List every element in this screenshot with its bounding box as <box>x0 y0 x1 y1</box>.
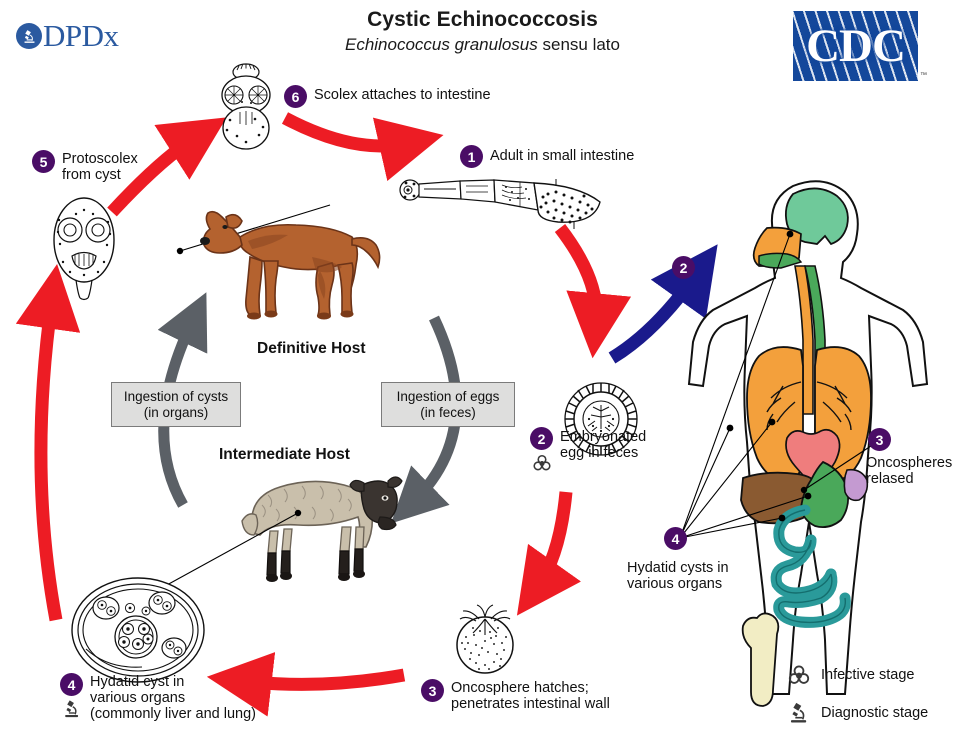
step-6-caption: 6 Scolex attaches to intestine <box>284 85 491 108</box>
ingestion-of-cysts-box: Ingestion of cysts (in organs) <box>111 382 241 427</box>
legend-row-diagnostic: Diagnostic stage <box>786 700 928 726</box>
step-4-caption: 4 Hydatid cyst in various organs (common… <box>60 673 256 723</box>
step-2-badge: 2 <box>530 427 553 450</box>
step-5-label: Protoscolex from cyst <box>62 150 138 183</box>
protoscolex-illustration <box>46 192 122 300</box>
step-2-icon-group: 2 <box>530 427 553 474</box>
step-6-badge: 6 <box>284 85 307 108</box>
hydatid-cyst-illustration <box>58 575 218 685</box>
scolex-illustration <box>213 62 279 150</box>
biohazard-icon <box>531 452 553 474</box>
step-2-caption: 2 Embryonated egg in feces <box>530 427 646 474</box>
biohazard-icon <box>786 662 812 688</box>
step-3-badge: 3 <box>421 679 444 702</box>
step-1-badge: 1 <box>460 145 483 168</box>
definitive-host-dog-illustration <box>192 195 392 335</box>
step-3-caption: 3 Oncosphere hatches; penetrates intesti… <box>421 679 610 712</box>
human-step-4-badge: 4 <box>664 527 687 550</box>
step-4-badge: 4 <box>60 673 83 696</box>
step-1-label: Adult in small intestine <box>490 145 634 164</box>
legend-label-infective: Infective stage <box>821 667 915 683</box>
step-4-label: Hydatid cyst in various organs (commonly… <box>90 673 256 723</box>
definitive-host-label: Definitive Host <box>257 340 366 358</box>
oncosphere-illustration <box>446 603 524 675</box>
step-6-label: Scolex attaches to intestine <box>314 85 491 103</box>
step-5-badge: 5 <box>32 150 55 173</box>
step-5-caption: 5 Protoscolex from cyst <box>32 150 138 183</box>
step-1-caption: 1 Adult in small intestine <box>460 145 634 168</box>
step-2-label: Embryonated egg in feces <box>560 427 646 461</box>
ingestion-of-eggs-box: Ingestion of eggs (in feces) <box>381 382 515 427</box>
step-4-icon-group: 4 <box>60 673 83 720</box>
microscope-icon <box>786 700 812 726</box>
human-step-4-label: Hydatid cysts in various organs <box>627 560 729 592</box>
legend-row-infective: Infective stage <box>786 662 928 688</box>
legend: Infective stage Diagnostic stage <box>786 662 928 738</box>
microscope-icon <box>61 698 83 720</box>
step-3-label: Oncosphere hatches; penetrates intestina… <box>451 679 610 712</box>
hydatid-cysts-leader-fan <box>660 200 900 560</box>
legend-label-diagnostic: Diagnostic stage <box>821 705 928 721</box>
life-cycle-diagram: DPDx Cystic Echinococcosis Echinococcus … <box>0 0 965 753</box>
